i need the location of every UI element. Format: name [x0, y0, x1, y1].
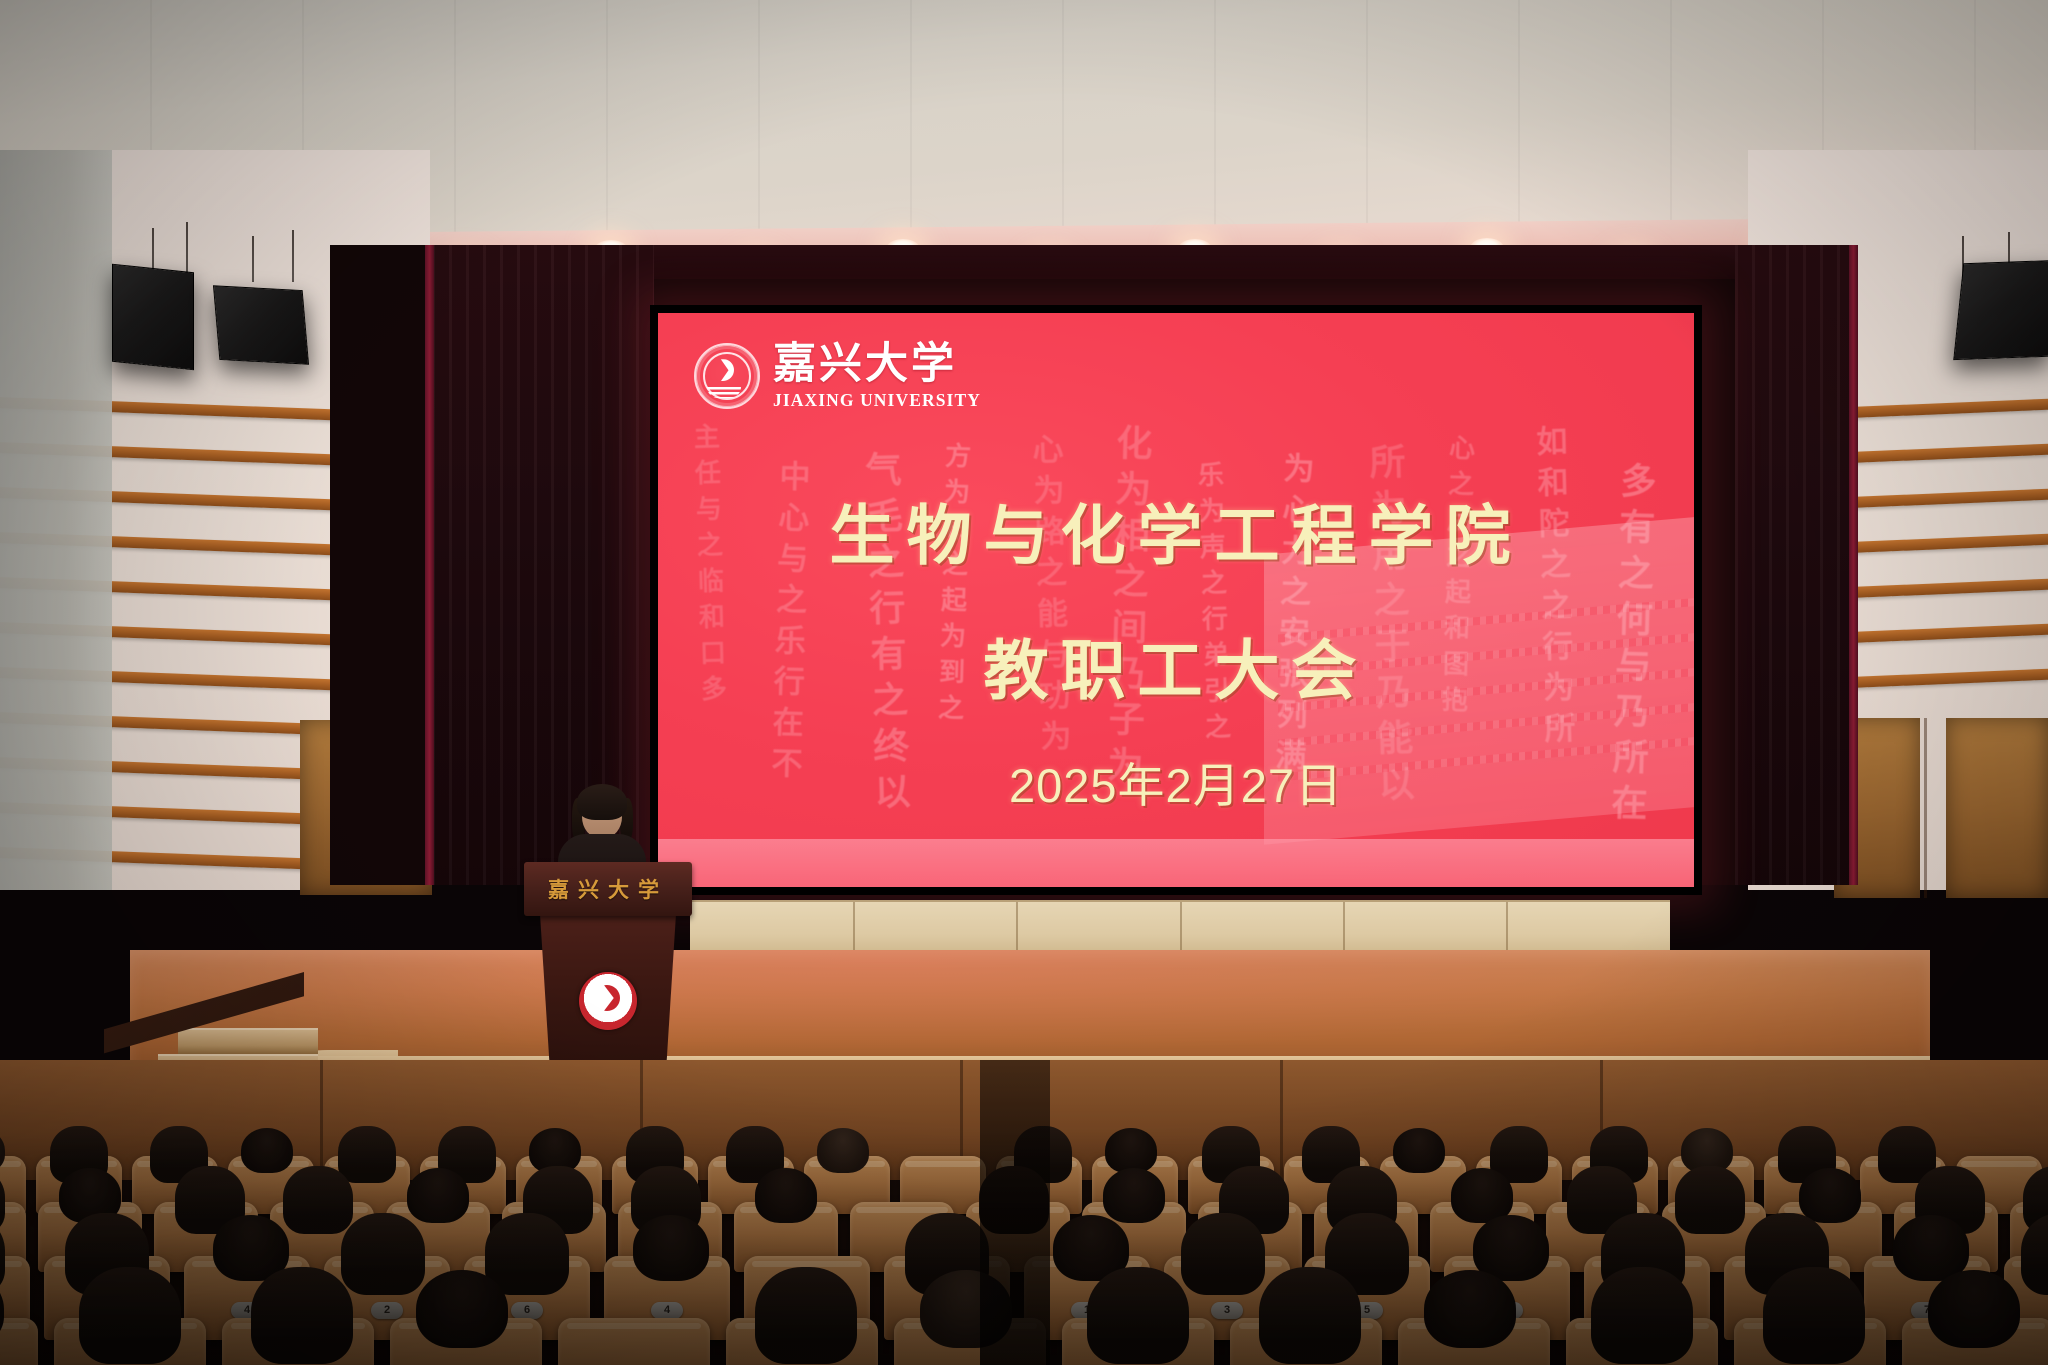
calligraphy-column-6: 化为相之间乃子为 — [1096, 423, 1158, 792]
hanging-speaker-right — [1953, 260, 2048, 360]
audience-member — [633, 1215, 709, 1281]
audience-member-hair — [283, 1166, 353, 1234]
seat[interactable] — [0, 1318, 38, 1365]
university-logo: 嘉兴大学 JIAXING UNIVERSITY — [694, 343, 981, 410]
speaker-wire-4 — [292, 230, 294, 282]
audience-member — [1105, 1128, 1157, 1173]
audience-member — [241, 1128, 293, 1173]
center-aisle — [980, 1060, 1050, 1365]
right-door-recess-b — [1946, 718, 2048, 898]
audience-member — [407, 1168, 469, 1223]
stage-floor-glow — [130, 950, 1930, 1070]
calligraphy-column-5: 心为路之能与功为 — [1022, 432, 1076, 761]
hanging-speaker-left — [112, 264, 194, 371]
seat-number: 6 — [511, 1302, 543, 1319]
audience-member-hair — [79, 1267, 181, 1365]
slide-title-line1: 生物与化学工程学院 — [658, 483, 1694, 577]
audience-member — [817, 1128, 869, 1173]
audience-member-hair — [485, 1213, 570, 1295]
led-screen-frame: 主任与之临和口多中心与之乐行在不气毛之行有之终以方为布之起为到之心为路之能与功为… — [650, 305, 1702, 895]
auditorium-photo: 主任与之临和口多中心与之乐行在不气毛之行有之终以方为布之起为到之心为路之能与功为… — [0, 0, 2048, 1365]
audience-member-hair — [755, 1267, 857, 1365]
audience-member-hair — [1675, 1166, 1745, 1234]
curtain-edge-right — [1849, 245, 1858, 885]
curtain-edge-left — [425, 245, 434, 885]
left-wall-shadow — [0, 150, 112, 890]
seat-number: 3 — [1211, 1302, 1243, 1319]
audience-member-hair — [1259, 1267, 1361, 1365]
university-seal-icon — [694, 343, 760, 409]
logo-chinese-name: 嘉兴大学 — [773, 343, 981, 386]
speaker-wire-3 — [252, 236, 254, 282]
slide-bottom-band — [658, 839, 1694, 887]
audience-member-hair — [341, 1213, 426, 1295]
audience-member-hair — [1763, 1267, 1865, 1365]
slide-title-line2: 教职工大会 — [658, 618, 1694, 712]
stage-curtain-right — [1735, 245, 1855, 885]
seat-number: 2 — [371, 1302, 403, 1319]
podium: 嘉兴大学 — [534, 862, 682, 1092]
speaker-wire-2 — [186, 222, 188, 274]
audience-member-hair — [1181, 1213, 1266, 1295]
auditorium-seating: 26426426135735716426426135735 — [0, 1060, 2048, 1365]
presentation-slide: 主任与之临和口多中心与之乐行在不气毛之行有之终以方为布之起为到之心为路之能与功为… — [658, 313, 1694, 887]
seat-number: 4 — [651, 1302, 683, 1319]
right-door-divider — [1924, 718, 1927, 898]
audience-member — [1799, 1168, 1861, 1223]
audience-member-hair — [1591, 1267, 1693, 1365]
audience-member — [755, 1168, 817, 1223]
university-emblem-icon — [579, 972, 637, 1030]
stage-curtain-left — [432, 245, 654, 885]
audience-member — [1103, 1168, 1165, 1223]
audience-member-hair — [338, 1126, 396, 1183]
slide-date: 2025年2月27日 — [658, 747, 1694, 816]
hanging-speaker-center-left — [213, 285, 309, 364]
audience-member — [1928, 1270, 2019, 1348]
audience-member-hair — [1087, 1267, 1189, 1365]
audience-member — [1424, 1270, 1515, 1348]
audience-member — [1893, 1215, 1969, 1281]
audience-member — [1393, 1128, 1445, 1173]
podium-chinese-name: 嘉兴大学 — [524, 874, 692, 904]
audience-member-hair — [251, 1267, 353, 1365]
seat[interactable] — [558, 1318, 710, 1365]
logo-english-name: JIAXING UNIVERSITY — [773, 392, 981, 410]
audience-member — [416, 1270, 507, 1348]
